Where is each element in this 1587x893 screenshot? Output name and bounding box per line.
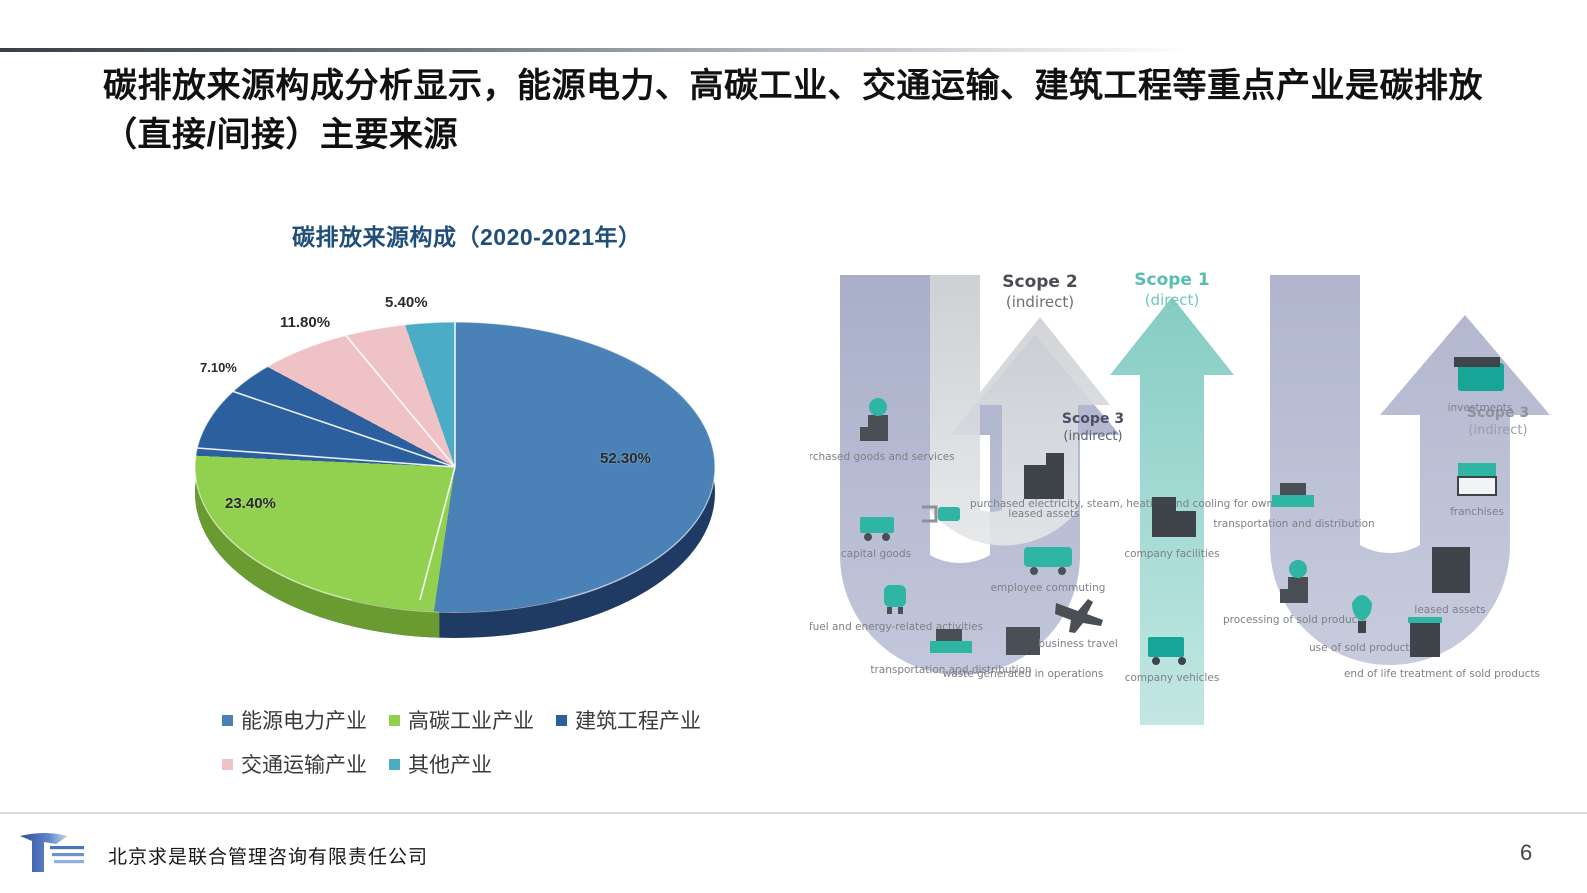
caption-purchased-electricity: purchased electricity, steam, heating an…	[970, 498, 1295, 510]
caption-capital-goods: capital goods	[841, 548, 911, 560]
ghg-scope-diagram: Scope 2 (indirect) Scope 1 (direct) Scop…	[810, 255, 1580, 725]
pie-top-face	[195, 322, 715, 612]
legend-swatch-icon	[389, 759, 400, 770]
factory-icon	[868, 415, 888, 441]
factory-icon	[860, 427, 870, 441]
legend-label-transport: 交通运输产业	[241, 749, 367, 779]
legend-swatch-icon	[389, 715, 400, 726]
pie-chart: 52.30% 23.40% 7.10% 11.80% 5.40%	[175, 270, 775, 690]
pie-label-building: 7.10%	[200, 360, 237, 375]
scope3-downstream-arrow	[1270, 275, 1550, 665]
truck-icon	[1178, 657, 1186, 665]
money-icon	[1454, 357, 1500, 367]
fuel-icon	[887, 607, 892, 614]
caption-purchased-goods: purchased goods and services	[810, 451, 955, 463]
legend-item-building[interactable]: 建筑工程产业	[556, 705, 701, 735]
scope2-kind: (indirect)	[1006, 293, 1074, 311]
plug-icon	[938, 507, 960, 521]
pie-label-industry: 23.40%	[225, 495, 276, 512]
pie-label-other: 5.40%	[385, 294, 428, 311]
factory-icon	[1280, 589, 1290, 603]
company-logo	[18, 828, 96, 876]
footer-company-name: 北京求是联合管理咨询有限责任公司	[108, 842, 428, 869]
cloud-icon	[1289, 560, 1307, 578]
legend-label-energy: 能源电力产业	[241, 705, 367, 735]
store-icon	[1458, 463, 1496, 477]
slide-root: 碳排放来源构成分析显示，能源电力、高碳工业、交通运输、建筑工程等重点产业是碳排放…	[0, 0, 1587, 893]
scope2-name: Scope 2	[1002, 272, 1077, 292]
chart-title: 碳排放来源构成（2020-2021年）	[292, 218, 642, 252]
scope3-up-kind: (indirect)	[1063, 429, 1122, 444]
legend-swatch-icon	[222, 759, 233, 770]
scope1-name: Scope 1	[1134, 270, 1209, 290]
caption-investments: investments	[1448, 402, 1513, 414]
ship-icon	[1280, 483, 1306, 495]
truck-icon	[864, 533, 872, 541]
lightbulb-icon	[1358, 621, 1366, 633]
building-icon	[1024, 465, 1046, 499]
truck-icon	[860, 517, 894, 533]
caption-end-of-life-treatment: end of life treatment of sold products	[1344, 668, 1540, 680]
pie-label-transport: 11.80%	[280, 314, 330, 331]
caption-company-facilities: company facilities	[1124, 548, 1219, 560]
page-title: 碳排放来源构成分析显示，能源电力、高碳工业、交通运输、建筑工程等重点产业是碳排放…	[103, 62, 1523, 161]
scope3-down-kind: (indirect)	[1468, 423, 1527, 438]
fuel-icon	[884, 585, 906, 607]
scope1-heading: Scope 1 (direct)	[1134, 270, 1209, 309]
footer-divider	[0, 812, 1587, 814]
chart-legend: 能源电力产业 高碳工业产业 建筑工程产业 交通运输产业 其他产业	[222, 705, 782, 793]
recycle-bin-icon	[1410, 623, 1440, 657]
truck-icon	[1152, 657, 1160, 665]
legend-swatch-icon	[222, 715, 233, 726]
legend-item-energy[interactable]: 能源电力产业	[222, 705, 367, 735]
bus-icon	[1030, 567, 1038, 575]
item-franchises: franchises	[1450, 463, 1504, 518]
building-icon	[1152, 497, 1176, 537]
fuel-icon	[898, 607, 903, 614]
pie-stage	[175, 270, 735, 600]
caption-franchises: franchises	[1450, 506, 1504, 518]
caption-business-travel: business travel	[1038, 638, 1118, 650]
bus-icon	[1058, 567, 1066, 575]
money-icon	[1458, 363, 1504, 391]
pie-label-energy: 52.30%	[600, 450, 651, 467]
ship-icon	[1272, 495, 1314, 507]
caption-leased-assets-downstream: leased assets	[1414, 604, 1485, 616]
building-icon	[1046, 453, 1064, 499]
cloud-icon	[869, 398, 887, 416]
ship-icon	[930, 641, 972, 653]
building-icon	[1176, 511, 1196, 537]
building-icon	[1432, 547, 1470, 593]
waste-icon	[1006, 627, 1040, 655]
legend-label-industry: 高碳工业产业	[408, 705, 534, 735]
ship-icon	[936, 629, 962, 641]
truck-icon	[882, 533, 890, 541]
scope3-up-name: Scope 3	[1062, 411, 1124, 427]
caption-waste-generated: waste generated in operations	[943, 668, 1104, 680]
store-icon	[1458, 477, 1496, 495]
caption-employee-commuting: employee commuting	[991, 582, 1106, 594]
scope2-heading: Scope 2 (indirect)	[1002, 272, 1077, 311]
bus-icon	[1024, 547, 1072, 567]
truck-icon	[1148, 637, 1184, 657]
caption-transport-downstream: transportation and distribution	[1213, 518, 1374, 530]
legend-item-industry[interactable]: 高碳工业产业	[389, 705, 534, 735]
legend-item-other[interactable]: 其他产业	[389, 749, 492, 779]
caption-company-vehicles: company vehicles	[1125, 672, 1220, 684]
legend-item-transport[interactable]: 交通运输产业	[222, 749, 367, 779]
legend-label-other: 其他产业	[408, 749, 492, 779]
header-divider	[0, 48, 1190, 52]
legend-label-building: 建筑工程产业	[575, 705, 701, 735]
pie-chart-panel: 碳排放来源构成（2020-2021年） 52.30%	[120, 200, 820, 820]
legend-swatch-icon	[556, 715, 567, 726]
factory-icon	[1288, 577, 1308, 603]
caption-processing-sold-products: processing of sold products	[1223, 614, 1367, 626]
caption-use-sold-products: use of sold products	[1309, 642, 1415, 654]
scope1-kind: (direct)	[1145, 291, 1200, 309]
page-number: 6	[1520, 840, 1532, 866]
recycle-bin-icon	[1408, 617, 1442, 623]
